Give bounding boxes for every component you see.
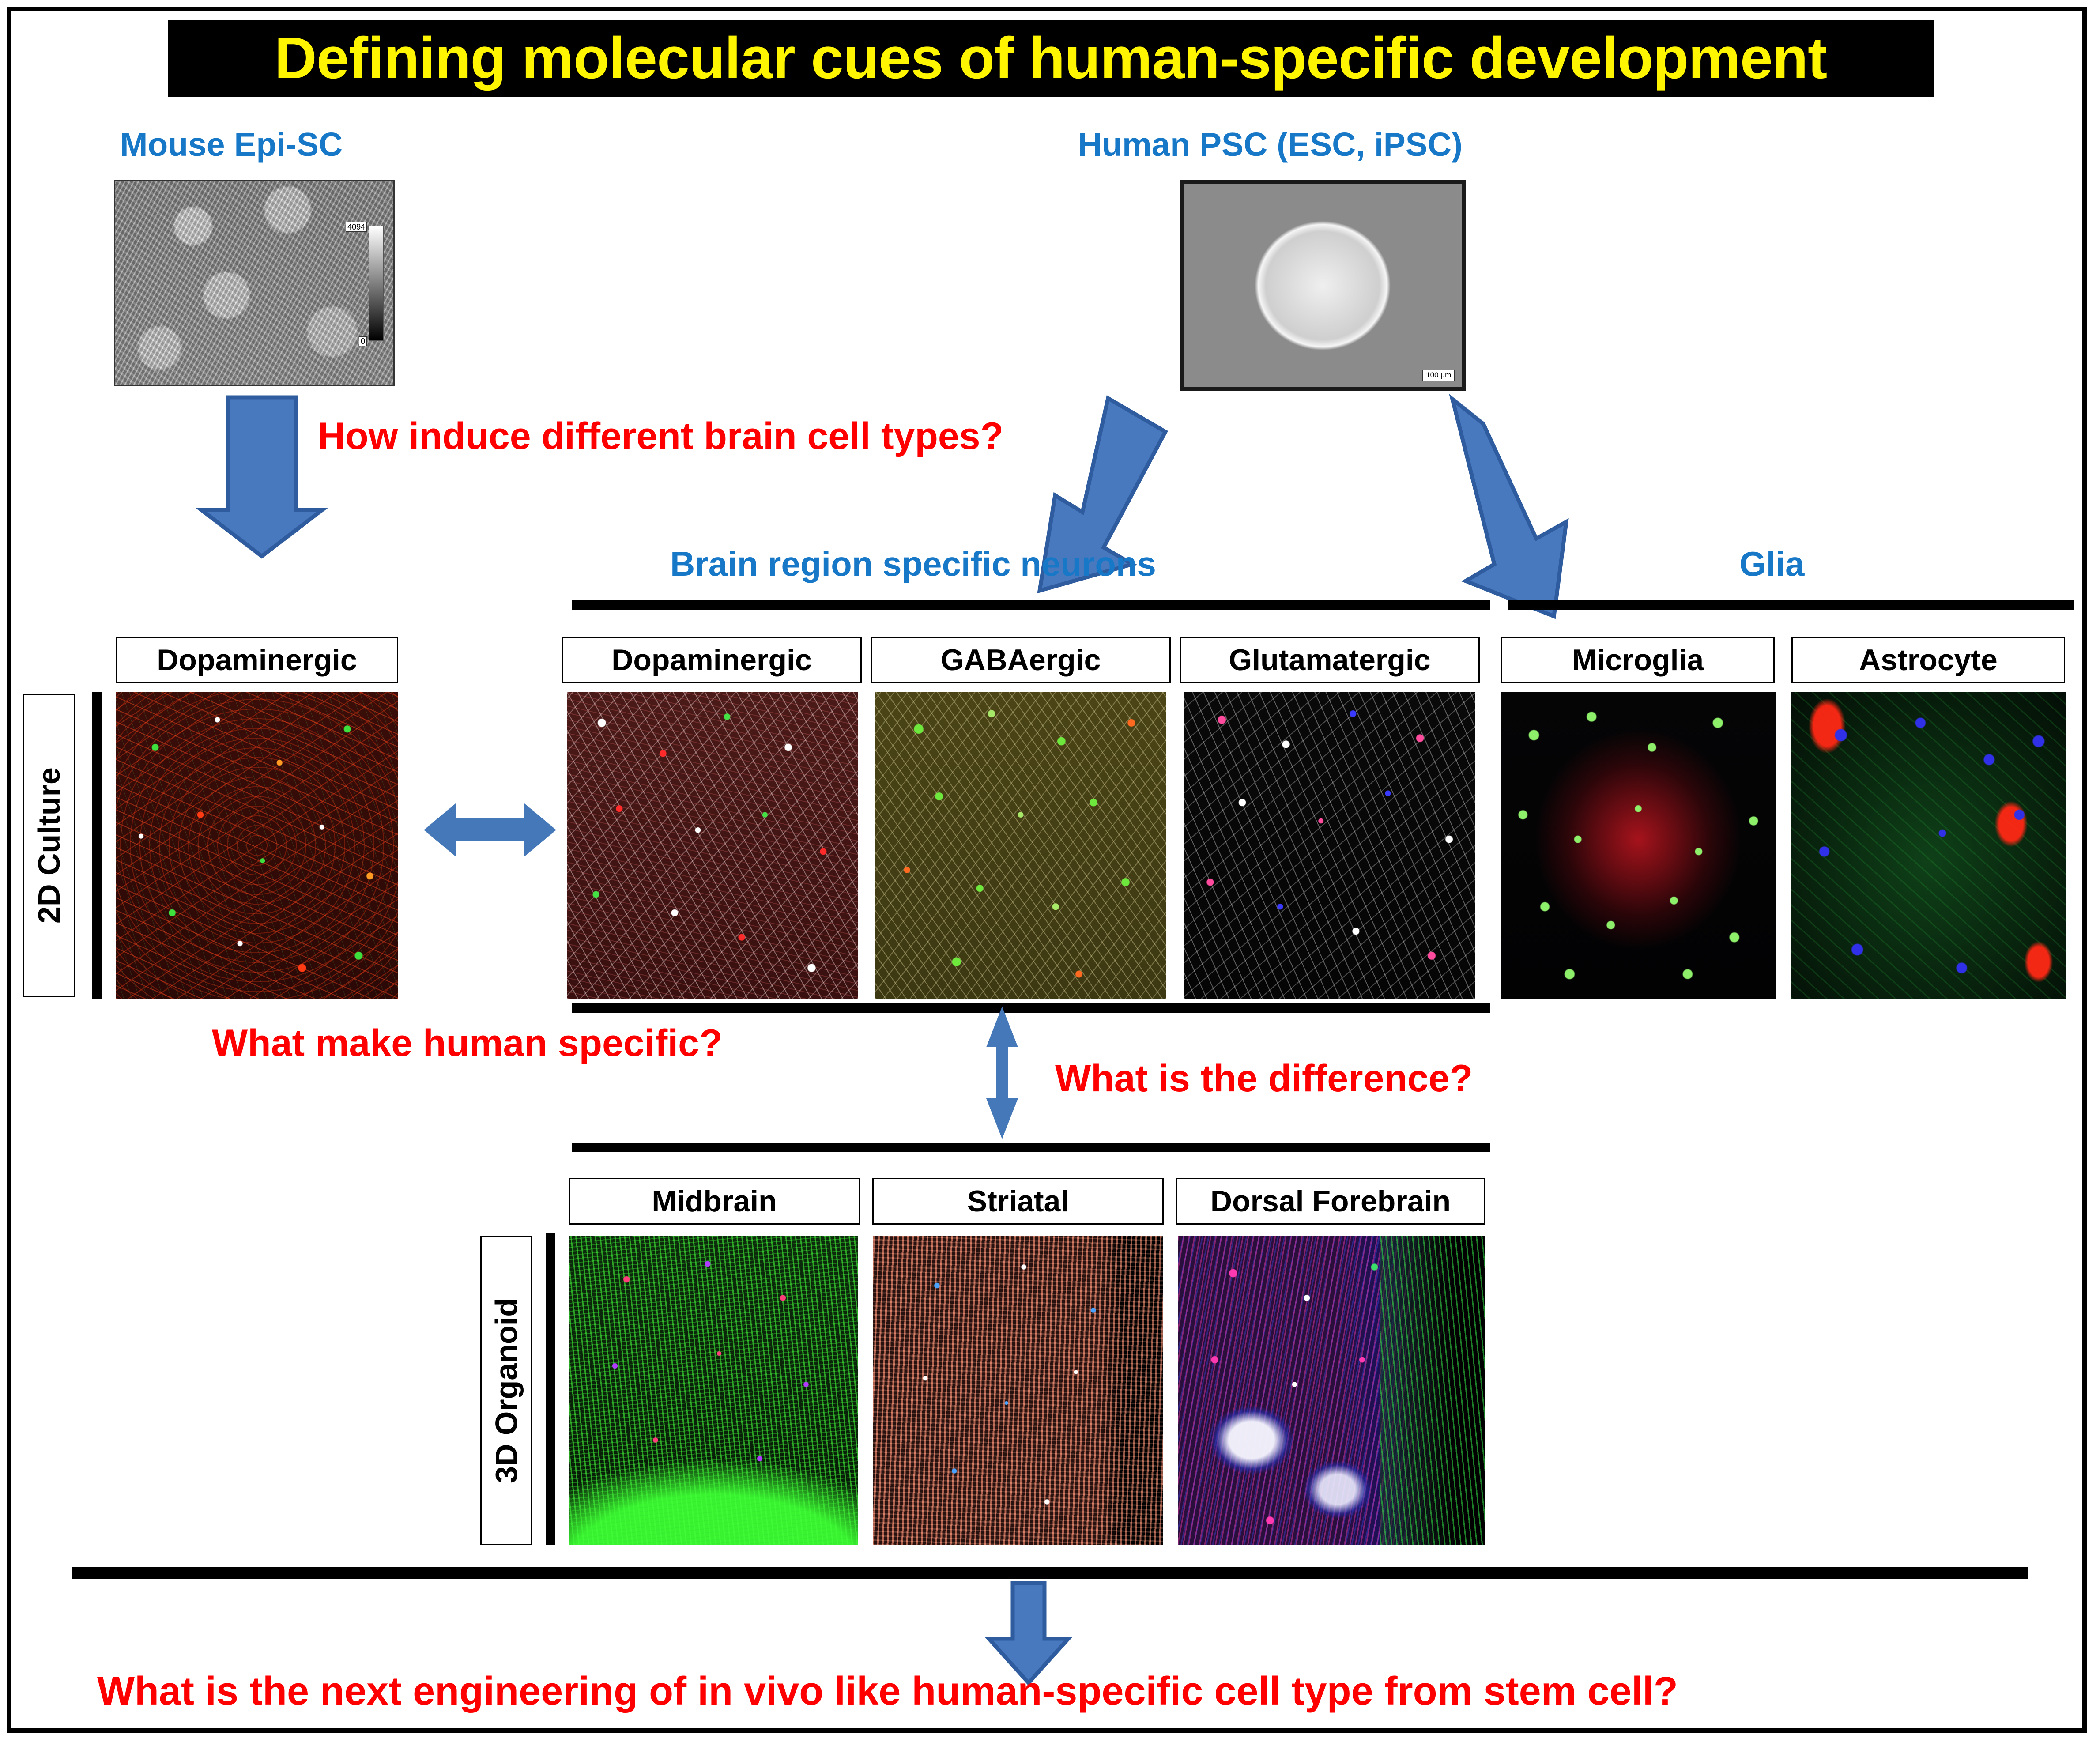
figure-canvas: Defining molecular cues of human-specifi… <box>0 0 2100 1746</box>
mouse-epi-sc-micrograph: 4094 0 <box>114 180 395 386</box>
row-bracket-2d <box>92 692 102 999</box>
organoid-group-rule <box>572 1143 1490 1152</box>
scale-bar: 100 µm <box>1422 370 1455 381</box>
caption-label: Midbrain <box>652 1186 777 1216</box>
caption-gabaergic: GABAergic <box>871 637 1171 683</box>
caption-human-dopaminergic: Dopaminergic <box>562 637 862 683</box>
caption-mouse-dopaminergic: Dopaminergic <box>116 637 398 683</box>
row-label-text: 3D Organoid <box>491 1298 522 1483</box>
page-title: Defining molecular cues of human-specifi… <box>275 29 1827 88</box>
neurons-group-rule <box>572 600 1490 610</box>
row-bracket-3d <box>546 1233 555 1545</box>
calibration-max-label: 4094 <box>346 222 367 232</box>
row-label-2d-culture: 2D Culture <box>23 694 75 997</box>
glia-group-rule <box>1508 600 2074 610</box>
dorsal-green-edge <box>1380 1236 1485 1545</box>
question-difference: What is the difference? <box>1055 1060 1473 1097</box>
human-psc-source-label: Human PSC (ESC, iPSC) <box>1078 128 1463 161</box>
caption-astrocyte: Astrocyte <box>1791 637 2065 683</box>
glutamatergic-image <box>1184 692 1475 999</box>
striatal-organoid-image <box>873 1236 1163 1545</box>
neurons-2d-bottom-rule <box>572 1003 1490 1013</box>
row-label-text: 2D Culture <box>34 767 64 924</box>
caption-label: Dopaminergic <box>157 645 357 675</box>
section-header-neurons: Brain region specific neurons <box>670 547 1156 581</box>
caption-striatal: Striatal <box>872 1178 1164 1225</box>
question-induce: How induce different brain cell types? <box>318 417 1003 455</box>
dorsal-forebrain-organoid-image <box>1178 1236 1485 1545</box>
gabaergic-image <box>875 692 1166 999</box>
caption-label: Astrocyte <box>1859 645 1998 675</box>
mouse-source-label: Mouse Epi-SC <box>120 128 343 161</box>
mouse-dopaminergic-image <box>116 692 398 999</box>
conclusion-divider-rule <box>72 1567 2028 1579</box>
caption-label: Microglia <box>1572 645 1704 675</box>
caption-microglia: Microglia <box>1501 637 1775 683</box>
grayscale-calibration-bar <box>369 226 384 341</box>
row-label-3d-organoid: 3D Organoid <box>480 1236 532 1545</box>
figure-title-banner: Defining molecular cues of human-specifi… <box>168 20 1934 97</box>
caption-label: Striatal <box>967 1186 1069 1216</box>
question-next-engineering: What is the next engineering of in vivo … <box>97 1671 1678 1711</box>
caption-label: Glutamatergic <box>1229 645 1430 675</box>
caption-midbrain: Midbrain <box>569 1178 860 1225</box>
caption-label: Dorsal Forebrain <box>1210 1186 1451 1216</box>
human-psc-micrograph: 100 µm <box>1180 180 1466 391</box>
caption-glutamatergic: Glutamatergic <box>1180 637 1480 683</box>
astrocyte-image <box>1791 692 2066 999</box>
calibration-min-label: 0 <box>359 336 367 346</box>
caption-dorsal-forebrain: Dorsal Forebrain <box>1176 1178 1485 1225</box>
midbrain-organoid-image <box>569 1236 858 1545</box>
question-human-specific: What make human specific? <box>212 1024 723 1062</box>
caption-label: Dopaminergic <box>611 645 811 675</box>
microglia-image <box>1501 692 1776 999</box>
human-dopaminergic-image <box>567 692 858 999</box>
section-header-glia: Glia <box>1739 547 1804 581</box>
caption-label: GABAergic <box>941 645 1101 675</box>
